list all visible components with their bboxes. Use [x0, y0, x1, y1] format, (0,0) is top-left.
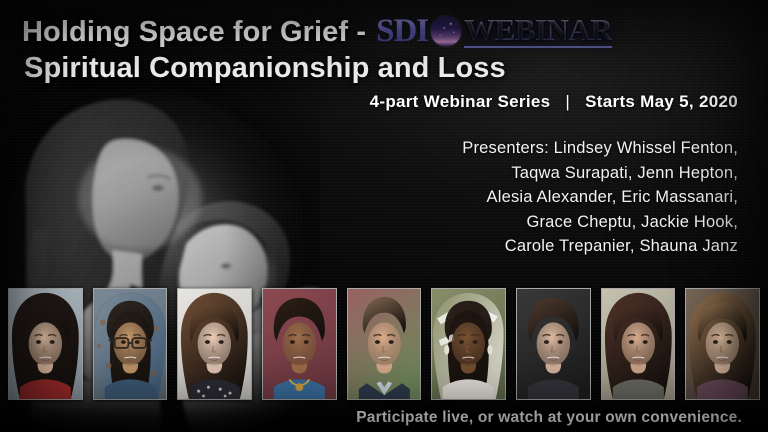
presenters-block: Presenters: Lindsey Whissel Fenton, Taqw…: [318, 136, 738, 259]
page-title-line-1: Holding Space for Grief -: [22, 14, 366, 50]
presenter-portrait: [601, 288, 676, 400]
title-block: Holding Space for Grief - SDI WEBINAR Sp…: [22, 14, 746, 86]
presenter-line: Presenters: Lindsey Whissel Fenton,: [318, 136, 738, 161]
presenter-portrait: [262, 288, 337, 400]
series-format: 4-part Webinar Series: [370, 92, 551, 111]
series-start-date: Starts May 5, 2020: [585, 92, 738, 111]
title-line-1-row: Holding Space for Grief - SDI WEBINAR: [22, 14, 746, 50]
series-separator: |: [555, 92, 580, 112]
presenter-line: Grace Cheptu, Jackie Hook,: [318, 210, 738, 235]
page-title-line-2: Spiritual Companionship and Loss: [22, 50, 746, 86]
webinar-wordmark: WEBINAR: [464, 14, 612, 48]
participation-tagline: Participate live, or watch at your own c…: [356, 409, 742, 427]
presenter-portrait: [177, 288, 252, 400]
presenter-line: Alesia Alexander, Eric Massanari,: [318, 185, 738, 210]
presenter-line: Taqwa Surapati, Jenn Hepton,: [318, 161, 738, 186]
webinar-promo-poster: Holding Space for Grief - SDI WEBINAR Sp…: [0, 0, 768, 432]
sdi-webinar-logo: SDI WEBINAR: [376, 14, 612, 48]
presenter-portrait-strip: [8, 288, 760, 400]
night-sky-orb-icon: [431, 16, 461, 46]
presenter-portrait: [8, 288, 83, 400]
presenter-line: Carole Trepanier, Shauna Janz: [318, 234, 738, 259]
sdi-brand-text: SDI: [376, 15, 428, 48]
presenter-portrait: [93, 288, 168, 400]
presenter-portrait: [347, 288, 422, 400]
presenter-portrait: [685, 288, 760, 400]
presenter-portrait: [431, 288, 506, 400]
series-info: 4-part Webinar Series | Starts May 5, 20…: [370, 92, 738, 112]
presenter-portrait: [516, 288, 591, 400]
